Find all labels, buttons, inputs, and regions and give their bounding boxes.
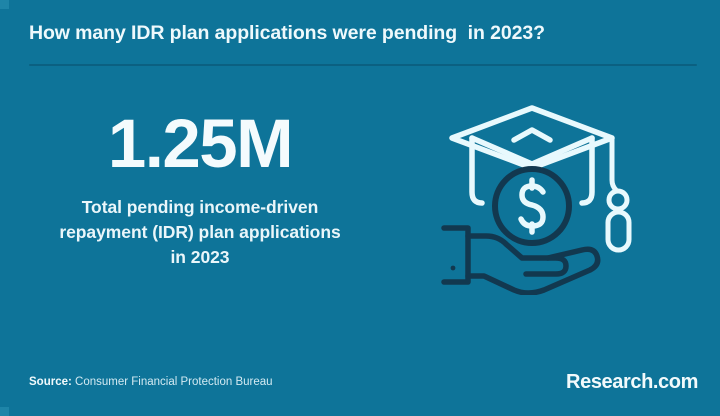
tassel-icon xyxy=(608,138,629,250)
header: How many IDR plan applications were pend… xyxy=(29,20,700,46)
stat-caption-line-3: in 2023 xyxy=(20,245,380,270)
open-hand-icon xyxy=(444,228,598,293)
stat-value: 1.25M xyxy=(20,105,380,183)
page-title: How many IDR plan applications were pend… xyxy=(29,20,700,46)
source-value: Consumer Financial Protection Bureau xyxy=(72,376,273,388)
source-attribution: Source: Consumer Financial Protection Bu… xyxy=(29,374,273,390)
hand-knuckle-dot-icon xyxy=(451,266,456,271)
header-divider xyxy=(29,64,697,66)
corner-highlight-bottom-left xyxy=(0,407,9,416)
stat-block: 1.25M Total pending income-driven repaym… xyxy=(20,105,380,270)
infographic-canvas: How many IDR plan applications were pend… xyxy=(0,0,720,416)
corner-highlight-top-left xyxy=(0,0,9,9)
source-label: Source: xyxy=(29,376,72,388)
dollar-coin-icon xyxy=(495,169,569,243)
stat-caption: Total pending income-driven repayment (I… xyxy=(20,195,380,270)
brand-logo-research-com[interactable]: Research.com xyxy=(566,370,698,394)
stat-caption-line-1: Total pending income-driven xyxy=(20,195,380,220)
stat-caption-line-2: repayment (IDR) plan applications xyxy=(20,220,380,245)
graduation-cap-with-dollar-coin-and-hand-icon xyxy=(440,100,650,295)
